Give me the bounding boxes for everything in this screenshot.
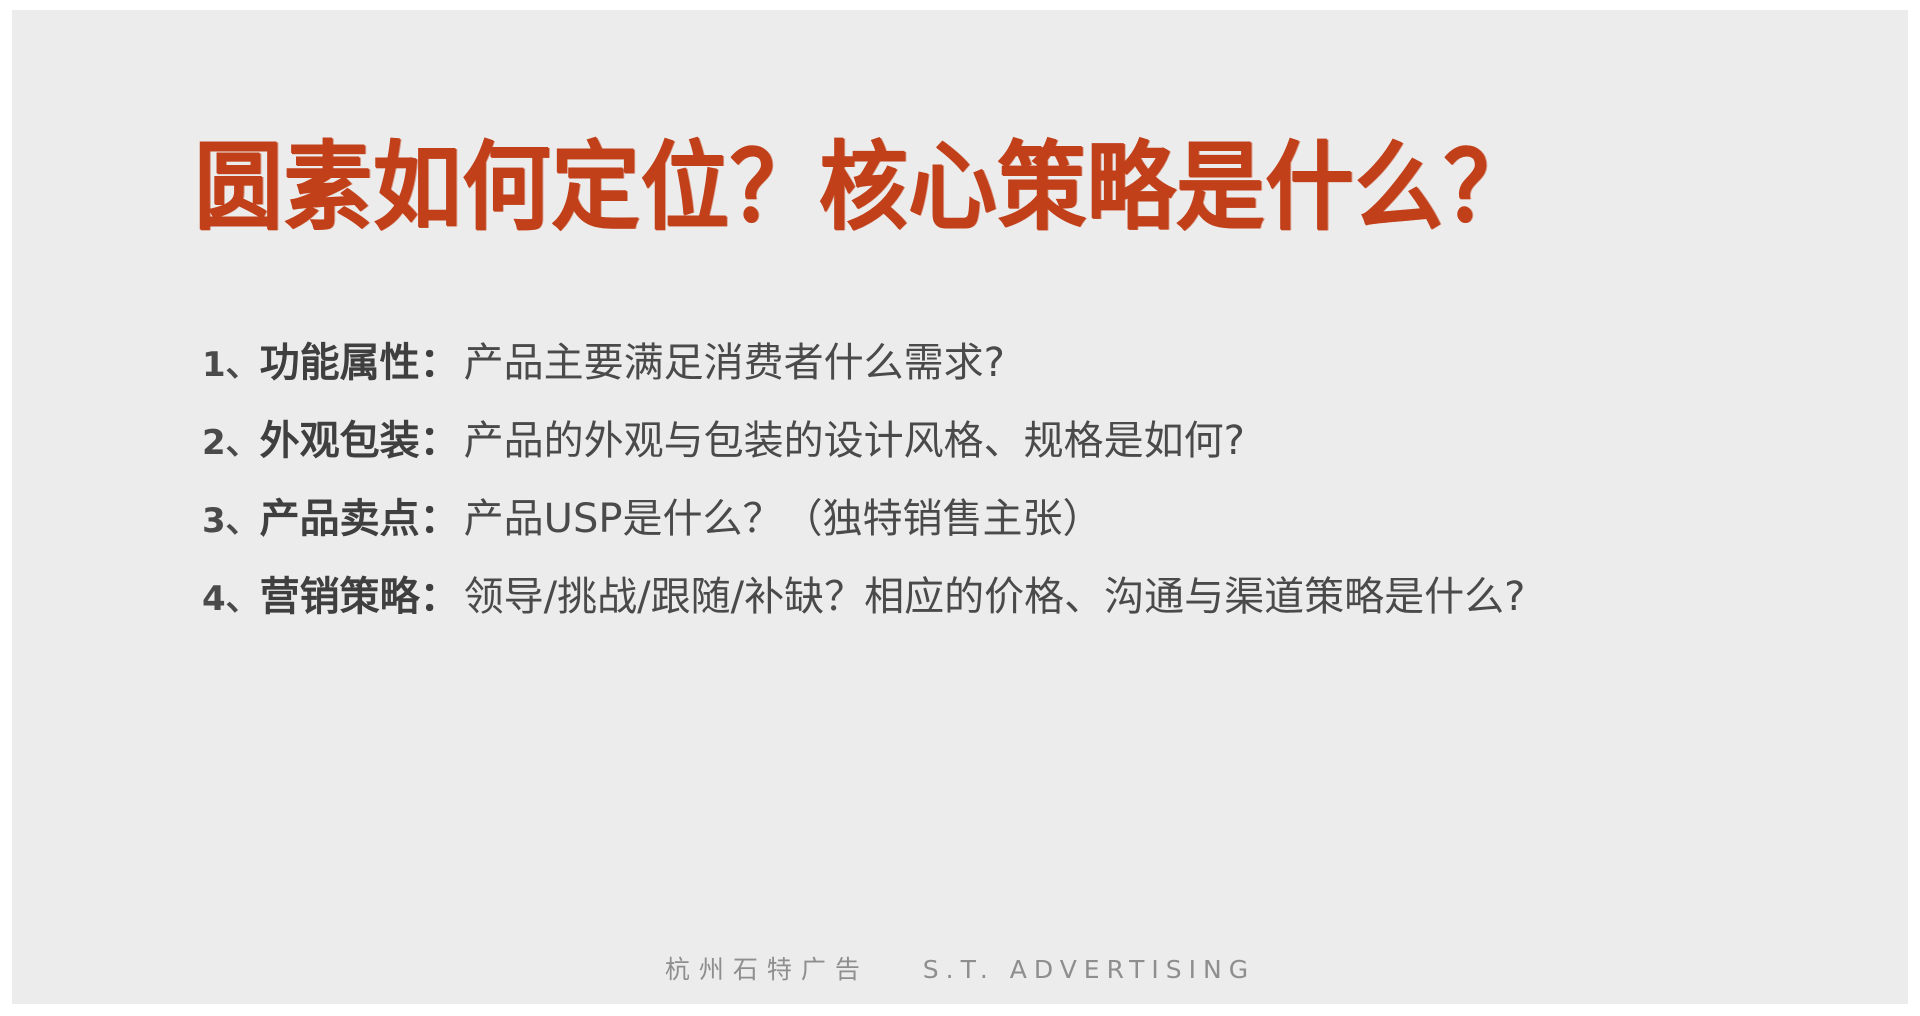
list-item-label: 功能属性 [260, 330, 420, 388]
list-item-text: 产品主要满足消费者什么需求? [464, 330, 1005, 388]
list-item-text: 产品USP是什么？（独特销售主张） [464, 486, 1103, 544]
list-item: 2、 外观包装 ： 产品的外观与包装的设计风格、规格是如何? [202, 408, 1852, 466]
page-title: 圆素如何定位？核心策略是什么？ [194, 136, 1533, 240]
list-item-index: 4、 [202, 571, 260, 620]
list-item-label: 营销策略 [260, 564, 420, 622]
bullet-list: 1、 功能属性 ： 产品主要满足消费者什么需求? 2、 外观包装 ： 产品的外观… [202, 330, 1852, 642]
list-item-text: 产品的外观与包装的设计风格、规格是如何? [464, 408, 1245, 466]
list-item-label: 外观包装 [260, 408, 420, 466]
list-item: 4、 营销策略 ： 领导/挑战/跟随/补缺？相应的价格、沟通与渠道策略是什么? [202, 564, 1852, 622]
list-item-index: 1、 [202, 337, 260, 386]
list-item-index: 3、 [202, 493, 260, 542]
list-item-text: 领导/挑战/跟随/补缺？相应的价格、沟通与渠道策略是什么? [464, 564, 1526, 622]
footer-company-cn: 杭州石特广告 [665, 955, 869, 984]
list-item: 3、 产品卖点 ： 产品USP是什么？（独特销售主张） [202, 486, 1852, 544]
slide-canvas: 圆素如何定位？核心策略是什么？ 1、 功能属性 ： 产品主要满足消费者什么需求?… [12, 10, 1908, 1004]
slide-page: 圆素如何定位？核心策略是什么？ 1、 功能属性 ： 产品主要满足消费者什么需求?… [0, 0, 1920, 1016]
slide-footer: 杭州石特广告 S.T. ADVERTISING [12, 950, 1908, 986]
list-item-colon: ： [420, 330, 464, 388]
list-item-colon: ： [420, 486, 464, 544]
list-item-colon: ： [420, 564, 464, 622]
list-item-index: 2、 [202, 415, 260, 464]
list-item-colon: ： [420, 408, 464, 466]
list-item-label: 产品卖点 [260, 486, 420, 544]
footer-company-en: S.T. ADVERTISING [923, 955, 1255, 984]
list-item: 1、 功能属性 ： 产品主要满足消费者什么需求? [202, 330, 1852, 388]
